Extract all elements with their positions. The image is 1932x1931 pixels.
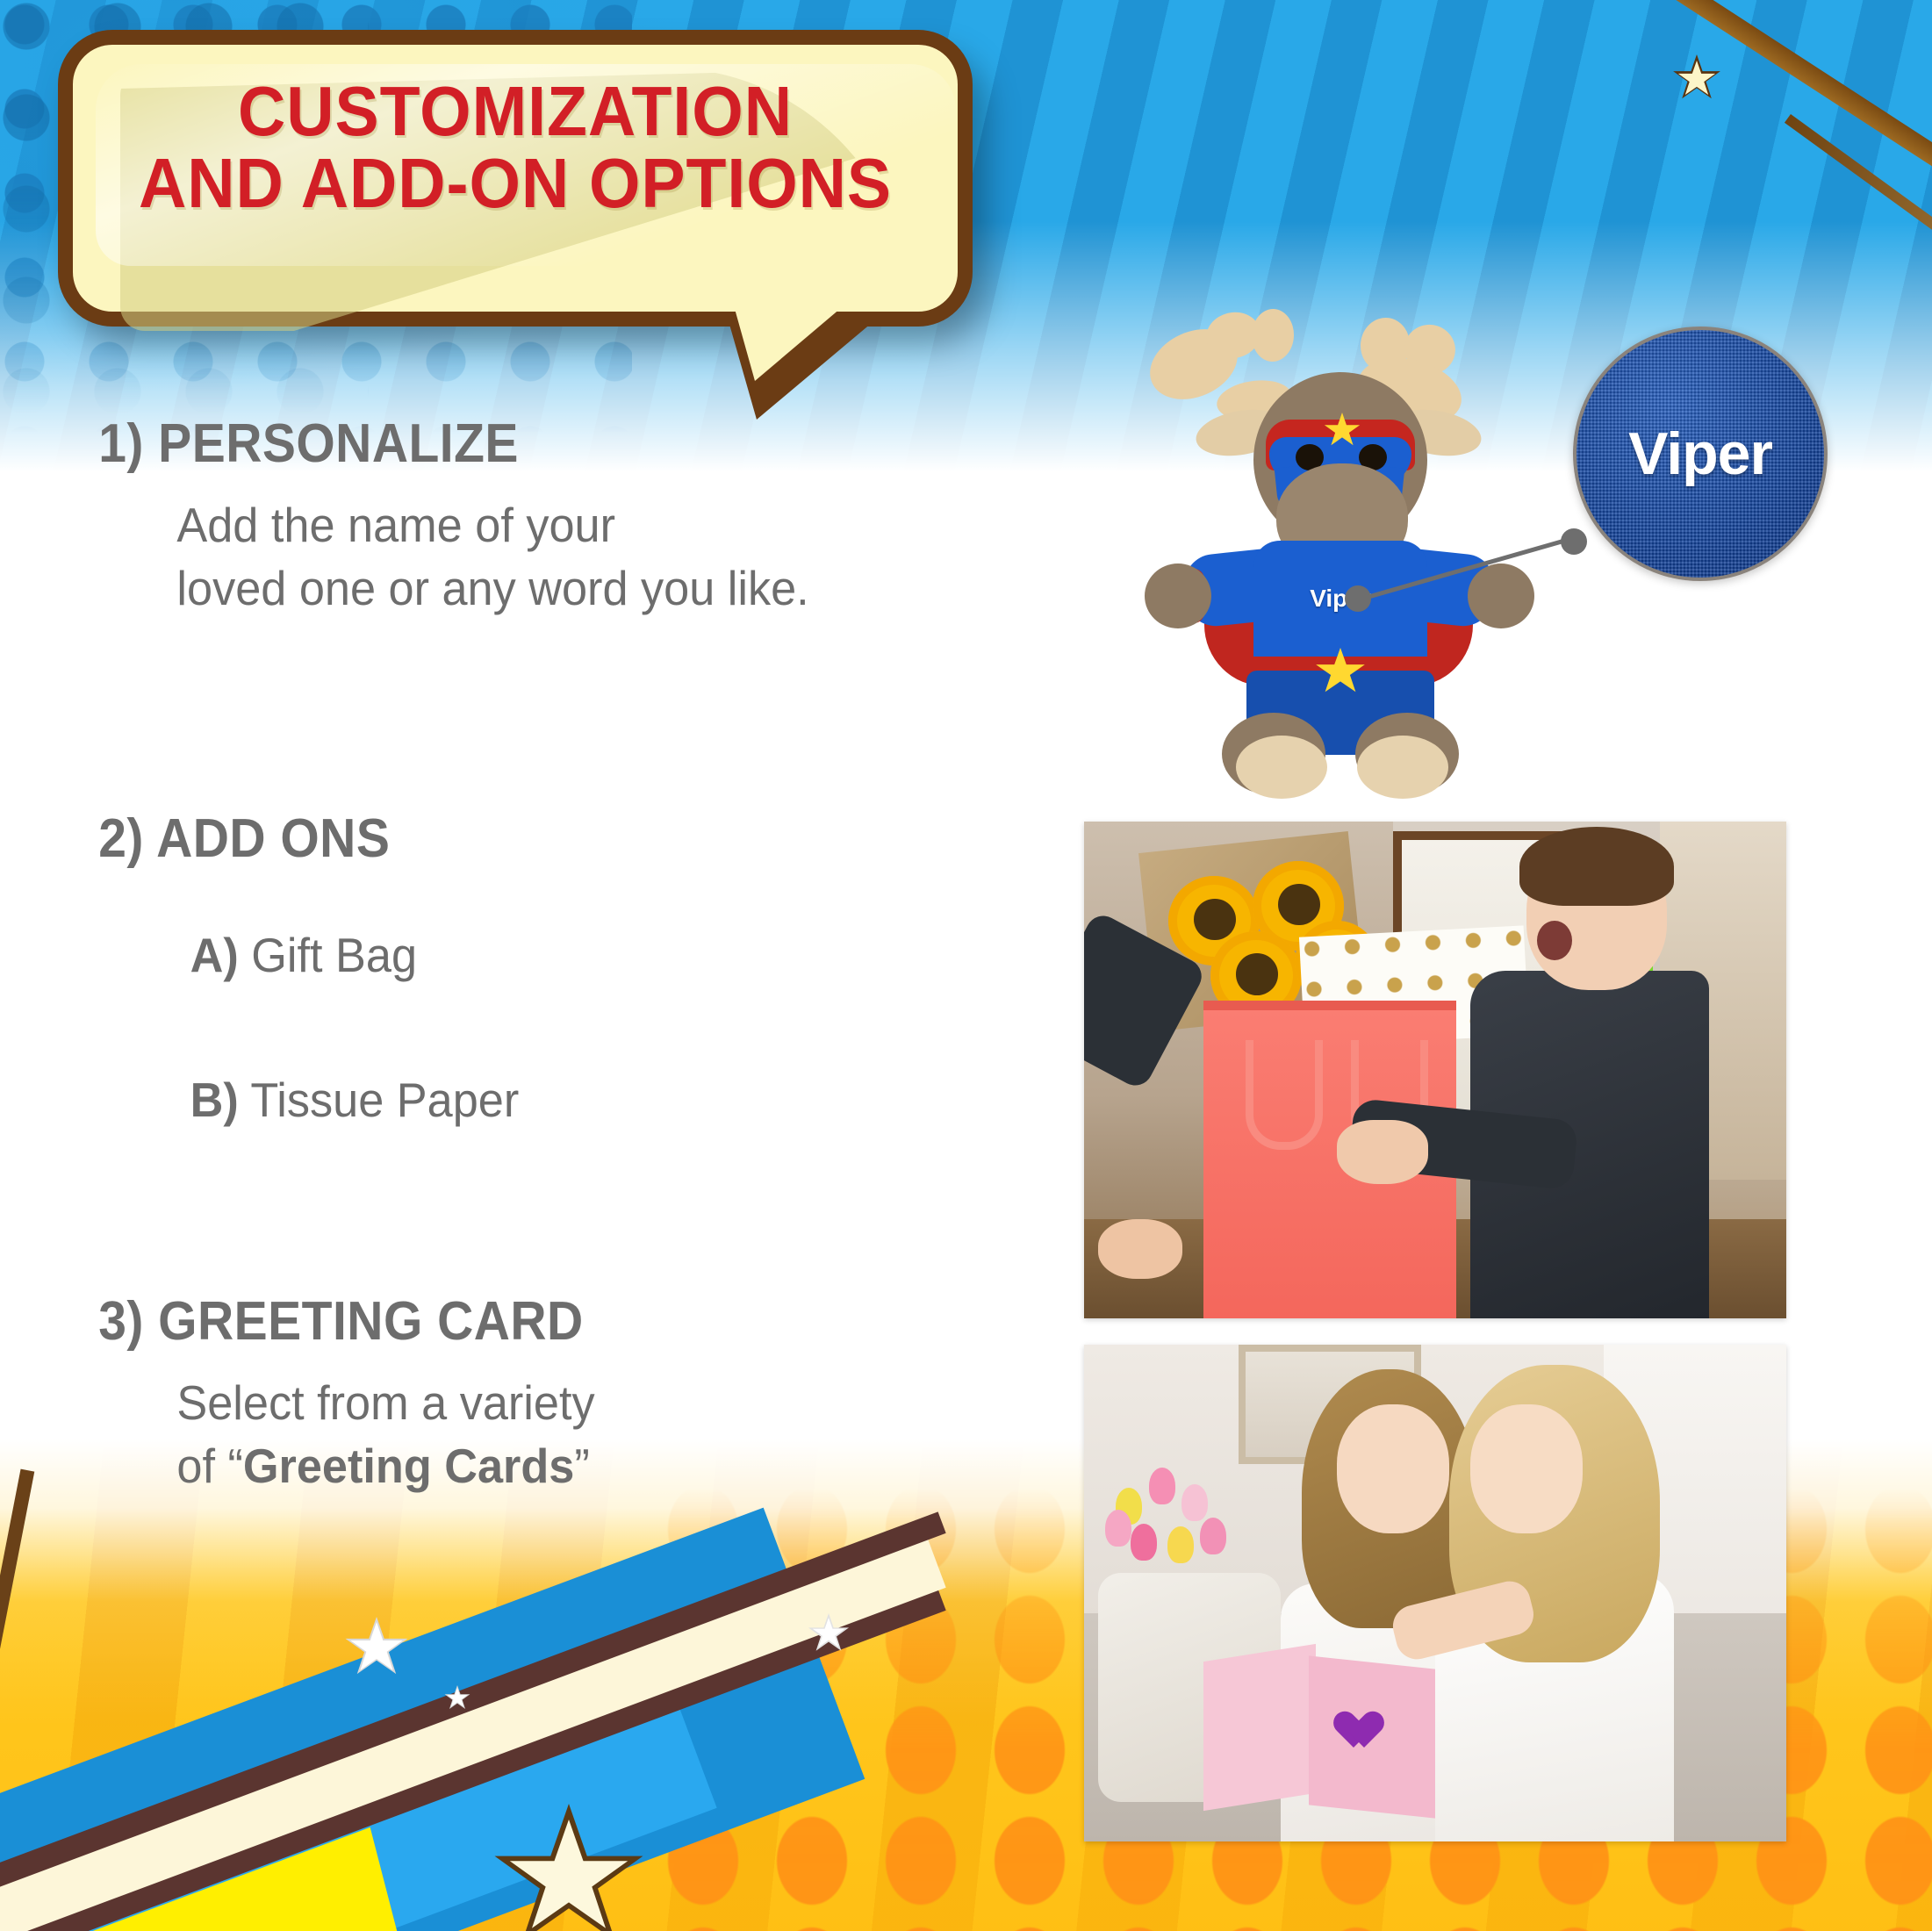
tulip-bouquet <box>1105 1454 1288 1593</box>
step-3-heading: 3) GREETING CARD <box>0 1290 969 1353</box>
ribbon-brown-lower <box>0 1511 946 1931</box>
add-on-option-a-label: Gift Bag <box>239 928 417 982</box>
gift-bag-handle-left <box>1246 1040 1323 1150</box>
star-icon-white-1-outline <box>344 1617 409 1678</box>
antler-left-tine-2 <box>1251 308 1295 363</box>
ribbon-blue-light <box>0 1684 717 1931</box>
heart-icon-on-card <box>1344 1712 1386 1751</box>
add-on-option-a: A) Gift Bag <box>0 926 417 984</box>
tulip-7 <box>1105 1510 1131 1547</box>
mother-face <box>1470 1404 1583 1533</box>
ribbon-blue <box>0 1508 865 1931</box>
viper-callout-label: Viper <box>1628 420 1772 488</box>
add-on-option-a-marker: A) <box>190 928 239 982</box>
adult-hand <box>1098 1219 1182 1279</box>
brown-diagonal-streak-1 <box>1648 0 1932 345</box>
step-add-ons: 2) ADD ONS A) Gift Bag B) Tissue Paper <box>0 808 1053 870</box>
star-icon-white-3-outline <box>808 1613 850 1654</box>
greeting-card-photo <box>1084 1345 1786 1841</box>
star-icon-large-outline <box>492 1804 646 1931</box>
step-2-heading: 2) ADD ONS <box>0 808 969 870</box>
paw-left <box>1145 564 1211 628</box>
page-title: CUSTOMIZATION AND ADD-ON OPTIONS <box>105 75 925 220</box>
pointer-dot-target <box>1561 528 1587 555</box>
girl-face <box>1337 1404 1449 1533</box>
tulip-6 <box>1200 1518 1226 1554</box>
paw-right <box>1468 564 1534 628</box>
step-3-body: Select from a variety of “Greeting Cards… <box>0 1372 1001 1497</box>
ribbon-yellow <box>74 1827 436 1931</box>
star-icon-large <box>507 1820 630 1931</box>
add-on-option-b-marker: B) <box>190 1073 239 1127</box>
ribbon-cream <box>0 1537 946 1931</box>
title-speech-bubble: CUSTOMIZATION AND ADD-ON OPTIONS <box>58 30 1001 383</box>
tulip-5 <box>1167 1526 1194 1563</box>
step-1-heading: 1) PERSONALIZE <box>0 413 969 475</box>
brown-diagonal-streak-2 <box>1785 114 1932 391</box>
step-3-body-suffix: ” <box>574 1439 589 1493</box>
gift-bag-photo <box>1084 822 1786 1318</box>
sunflower-2-core <box>1278 884 1320 926</box>
tulip-3 <box>1181 1484 1208 1521</box>
star-icon-white-2-outline <box>444 1685 470 1711</box>
boy-hand <box>1337 1120 1428 1185</box>
star-icon-white-1 <box>349 1622 404 1674</box>
step-1-body: Add the name of your loved one or any wo… <box>0 494 1001 620</box>
step-3-body-emphasis: Greeting Cards <box>243 1439 574 1493</box>
star-icon-top-outline <box>1672 54 1721 102</box>
add-on-option-b-label: Tissue Paper <box>239 1073 519 1127</box>
ribbon-brown-upper <box>0 1589 946 1931</box>
star-icon-white-3 <box>812 1618 845 1649</box>
sunflower-1-core <box>1194 899 1236 941</box>
pink-card-left-page <box>1203 1644 1316 1811</box>
viper-name-callout: Viper <box>1573 327 1828 581</box>
sunflower-3-core <box>1236 953 1278 995</box>
tulip-4 <box>1131 1524 1157 1561</box>
poster-canvas: CUSTOMIZATION AND ADD-ON OPTIONS 1) PERS… <box>0 0 1932 1931</box>
step-greeting-card: 3) GREETING CARD Select from a variety o… <box>0 1290 1053 1497</box>
foot-right <box>1357 736 1448 799</box>
star-icon-top <box>1677 61 1716 97</box>
boy-hair <box>1519 827 1674 907</box>
bubble-tail-fill <box>730 293 858 381</box>
add-on-option-b: B) Tissue Paper <box>0 1071 519 1129</box>
brown-stick-accent <box>0 1469 34 1931</box>
star-icon-white-2 <box>447 1688 468 1708</box>
tulip-2 <box>1149 1468 1175 1504</box>
foot-left <box>1236 736 1327 799</box>
step-personalize: 1) PERSONALIZE Add the name of your love… <box>0 413 1053 620</box>
